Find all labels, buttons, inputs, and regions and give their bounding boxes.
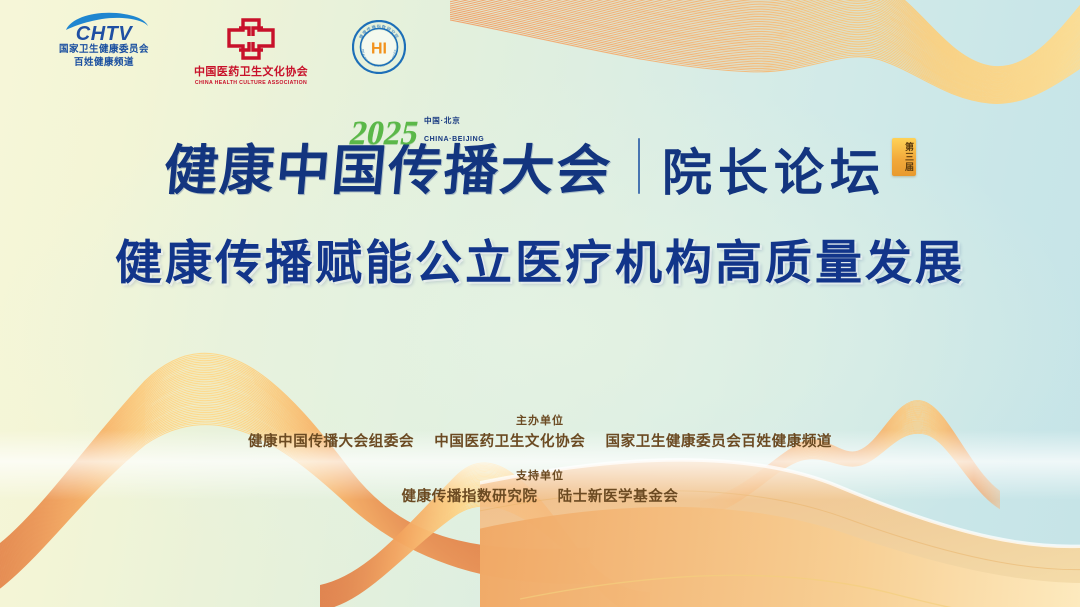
chtv-label-line1: 国家卫生健康委员会 xyxy=(59,44,149,57)
chca-name-en: CHINA HEALTH CULTURE ASSOCIATION xyxy=(195,80,307,86)
poster-subtitle: 健康传播赋能公立医疗机构高质量发展 xyxy=(0,224,1080,293)
logo-hi: 健康传播指数研究院 HEALTH COMMUNICATION INDEX HI xyxy=(352,20,406,74)
svg-text:CHTV: CHTV xyxy=(76,23,134,44)
title-city: 中国·北京 CHINA·BEIJING xyxy=(424,110,484,151)
title-block: 健康中国 传播大会 2025 中国·北京 CHINA·BEIJING 院长论坛 … xyxy=(0,138,1080,198)
chtv-label-line2: 百姓健康频道 xyxy=(74,57,134,70)
title-year: 2025 xyxy=(346,117,421,151)
supporter-item: 健康传播指数研究院 xyxy=(402,489,538,505)
svg-text:HI: HI xyxy=(371,41,387,58)
organizer-item: 中国医药卫生文化协会 xyxy=(434,434,585,450)
logo-chtv: CHTV 国家卫生健康委员会 百姓健康频道 xyxy=(58,10,150,69)
top-wave-lines xyxy=(450,0,1080,152)
title-city-cn: 中国·北京 xyxy=(424,116,461,125)
title-brush-part2: 传播大会 xyxy=(386,144,615,198)
organizers-label: 主办单位 xyxy=(0,412,1080,428)
hi-circular-seal-icon: 健康传播指数研究院 HEALTH COMMUNICATION INDEX HI xyxy=(352,20,406,74)
forum-title: 院长论坛 xyxy=(662,148,886,198)
red-cross-knot-icon xyxy=(223,16,279,62)
title-city-en: CHINA·BEIJING xyxy=(424,136,484,143)
year-city-group: 2025 中国·北京 CHINA·BEIJING xyxy=(350,110,484,151)
edition-badge: 第三届 xyxy=(892,138,916,176)
chca-name-cn: 中国医药卫生文化协会 xyxy=(194,63,308,79)
supporters-label: 支持单位 xyxy=(0,467,1080,483)
conference-title: 健康中国 传播大会 2025 中国·北京 CHINA·BEIJING xyxy=(164,144,612,198)
title-brush-part1: 健康中国 xyxy=(162,144,391,198)
logo-chca: 中国医药卫生文化协会 CHINA HEALTH CULTURE ASSOCIAT… xyxy=(194,16,308,86)
title-divider xyxy=(638,138,640,194)
credits-block: 主办单位 健康中国传播大会组委会 中国医药卫生文化协会 国家卫生健康委员会百姓健… xyxy=(0,412,1080,506)
supporters-group: 支持单位 健康传播指数研究院 陆士新医学基金会 xyxy=(0,467,1080,506)
supporters-list: 健康传播指数研究院 陆士新医学基金会 xyxy=(0,485,1080,506)
sponsor-logo-row: CHTV 国家卫生健康委员会 百姓健康频道 中国医药卫生文化协会 xyxy=(58,10,406,86)
organizers-list: 健康中国传播大会组委会 中国医药卫生文化协会 国家卫生健康委员会百姓健康频道 xyxy=(0,430,1080,451)
chtv-swoosh-icon: CHTV xyxy=(58,10,150,44)
organizer-item: 健康中国传播大会组委会 xyxy=(248,434,414,450)
supporter-item: 陆士新医学基金会 xyxy=(558,489,679,505)
organizer-item: 国家卫生健康委员会百姓健康频道 xyxy=(606,434,833,450)
conference-poster: CHTV 国家卫生健康委员会 百姓健康频道 中国医药卫生文化协会 xyxy=(0,0,1080,607)
background-decoration xyxy=(0,0,1080,607)
